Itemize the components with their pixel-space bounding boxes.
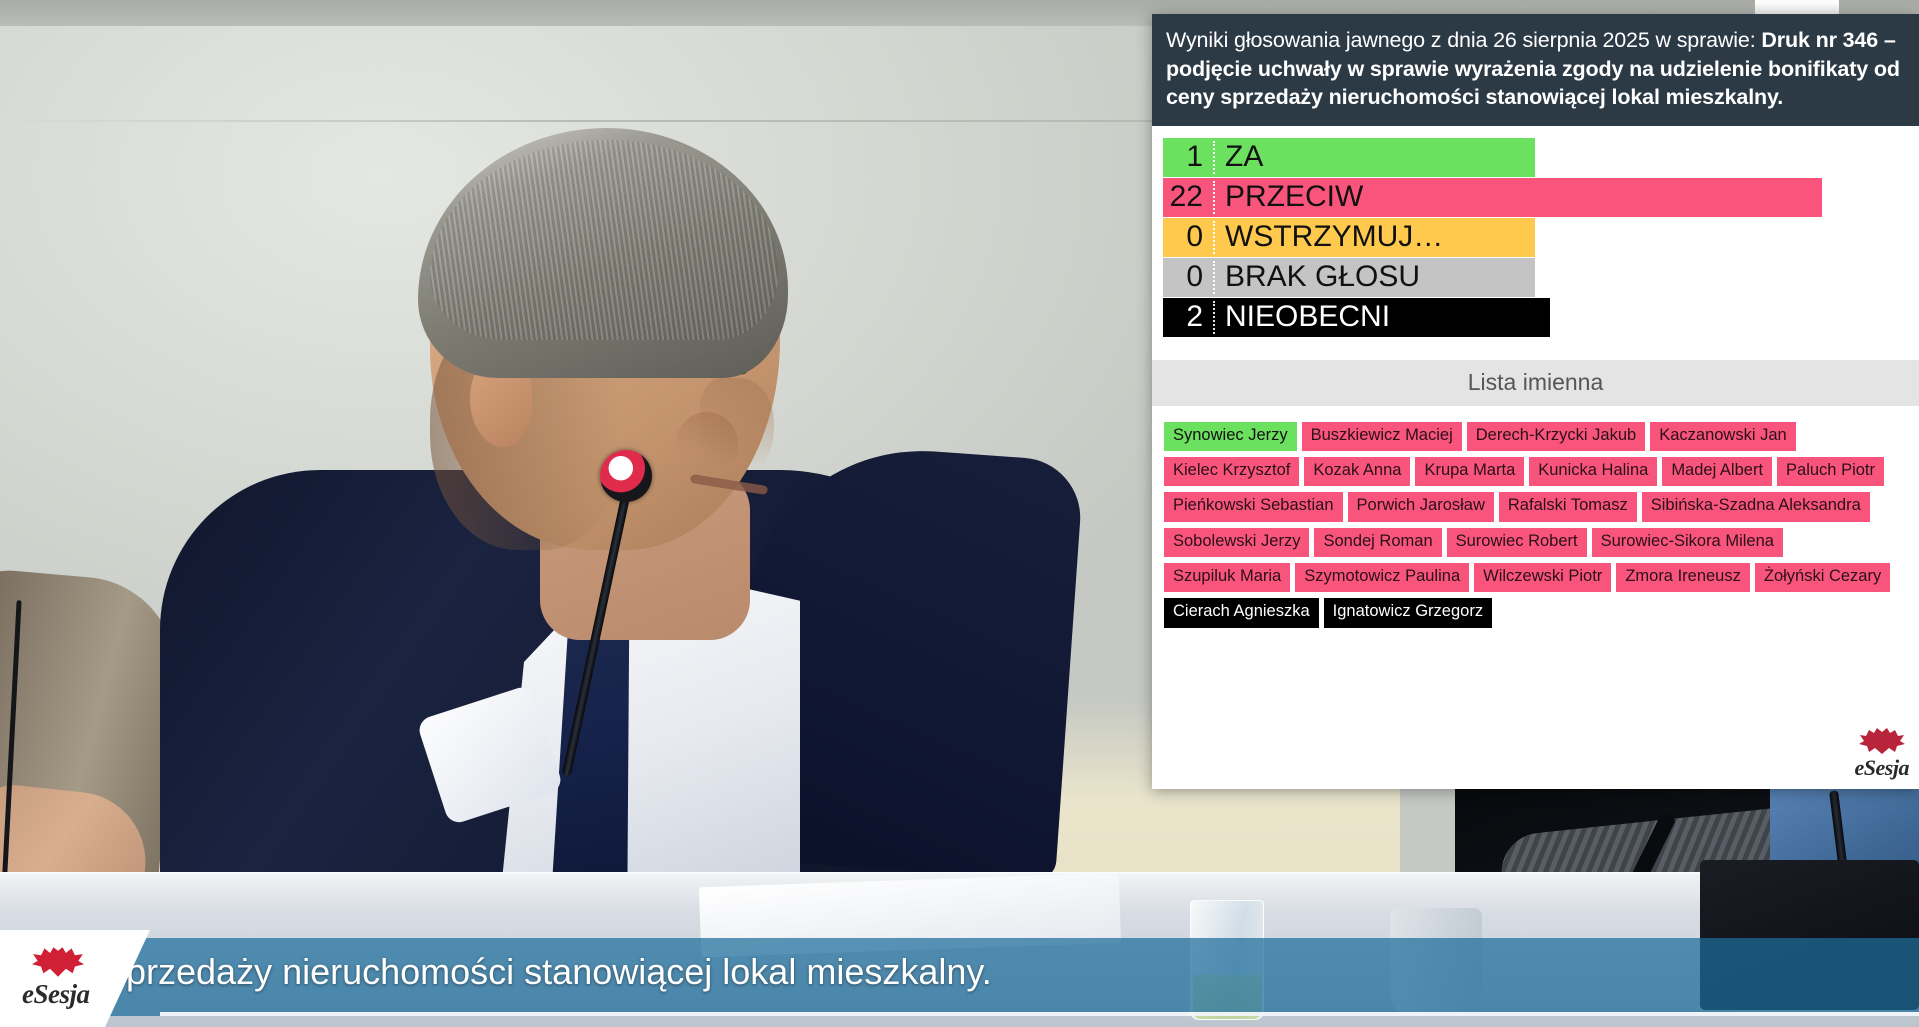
councillor-chip[interactable]: Surowiec-Sikora Milena <box>1592 528 1783 557</box>
vote-bar-content: 0WSTRZYMUJ… <box>1152 218 1443 257</box>
vote-count: 0 <box>1163 222 1213 252</box>
esesja-wordmark-panel: eSesja <box>1855 755 1909 781</box>
vote-count: 0 <box>1163 262 1213 292</box>
voting-results-bars: 1ZA22PRZECIW0WSTRZYMUJ…0BRAK GŁOSU2NIEOB… <box>1152 126 1919 348</box>
vote-bar-row: 2NIEOBECNI <box>1152 298 1919 337</box>
councillor-chip[interactable]: Zmora Ireneusz <box>1616 563 1750 592</box>
subtitle-text: sprzedaży nieruchomości stanowiącej loka… <box>108 952 1808 992</box>
councillor-chip[interactable]: Kozak Anna <box>1304 457 1410 486</box>
councillor-chip[interactable]: Derech-Krzycki Jakub <box>1467 422 1645 451</box>
councillor-chip[interactable]: Paluch Piotr <box>1777 457 1884 486</box>
vote-label: NIEOBECNI <box>1215 302 1390 332</box>
roll-call-chips: Synowiec JerzyBuszkiewicz MaciejDerech-K… <box>1164 422 1907 634</box>
councillor-chip[interactable]: Surowiec Robert <box>1447 528 1587 557</box>
councillor-chip[interactable]: Wilczewski Piotr <box>1474 563 1611 592</box>
voting-header-intro: Wyniki głosowania jawnego z dnia 26 sier… <box>1166 28 1761 52</box>
vote-bar-content: 2NIEOBECNI <box>1152 298 1390 337</box>
councillor-chip[interactable]: Rafalski Tomasz <box>1499 492 1637 521</box>
speaker-nose <box>700 378 774 478</box>
councillor-chip[interactable]: Kaczanowski Jan <box>1650 422 1795 451</box>
vote-bar-row: 22PRZECIW <box>1152 178 1919 217</box>
vote-bar-row: 1ZA <box>1152 138 1919 177</box>
voting-results-header: Wyniki głosowania jawnego z dnia 26 sier… <box>1152 14 1919 126</box>
councillor-chip[interactable]: Synowiec Jerzy <box>1164 422 1297 451</box>
councillor-chip[interactable]: Szupiluk Maria <box>1164 563 1290 592</box>
vote-bar-row: 0WSTRZYMUJ… <box>1152 218 1919 257</box>
councillor-chip[interactable]: Porwich Jarosław <box>1348 492 1494 521</box>
roll-call-name-list: Synowiec JerzyBuszkiewicz MaciejDerech-K… <box>1152 406 1919 789</box>
councillor-chip[interactable]: Cierach Agnieszka <box>1164 598 1319 627</box>
councillor-chip[interactable]: Pieńkowski Sebastian <box>1164 492 1343 521</box>
esesja-logo-panel: eSesja <box>1855 728 1909 781</box>
councillor-chip[interactable]: Madej Albert <box>1662 457 1772 486</box>
esesja-bat-mark-icon <box>1859 728 1905 754</box>
councillor-chip[interactable]: Krupa Marta <box>1415 457 1524 486</box>
roll-call-title: Lista imienna <box>1468 369 1604 396</box>
councillor-chip[interactable]: Buszkiewicz Maciej <box>1302 422 1462 451</box>
councillor-chip[interactable]: Żołyński Cezary <box>1755 563 1890 592</box>
councillor-chip[interactable]: Ignatowicz Grzegorz <box>1324 598 1492 627</box>
councillor-chip[interactable]: Sibińska-Szadna Aleksandra <box>1642 492 1870 521</box>
esesja-bat-mark-icon-badge <box>32 947 84 977</box>
vote-count: 2 <box>1163 302 1213 332</box>
subtitle-underline <box>160 1012 1919 1016</box>
councillor-chip[interactable]: Szymotowicz Paulina <box>1295 563 1469 592</box>
vote-bar-row: 0BRAK GŁOSU <box>1152 258 1919 297</box>
microphone-head <box>600 450 652 502</box>
vote-label: BRAK GŁOSU <box>1215 262 1420 292</box>
vote-label: ZA <box>1215 142 1263 172</box>
vote-bar-content: 1ZA <box>1152 138 1263 177</box>
vote-count: 22 <box>1163 182 1213 212</box>
vote-label: PRZECIW <box>1215 182 1363 212</box>
councillor-chip[interactable]: Sobolewski Jerzy <box>1164 528 1309 557</box>
screenshot-root: Wyniki głosowania jawnego z dnia 26 sier… <box>0 0 1919 1027</box>
esesja-wordmark-badge: eSesja <box>22 979 90 1010</box>
vote-bar-content: 22PRZECIW <box>1152 178 1363 217</box>
councillor-chip[interactable]: Sondej Roman <box>1314 528 1441 557</box>
voting-results-panel: Wyniki głosowania jawnego z dnia 26 sier… <box>1152 14 1919 789</box>
top-white-tab <box>1755 0 1839 15</box>
councillor-chip[interactable]: Kielec Krzysztof <box>1164 457 1299 486</box>
roll-call-title-bar: Lista imienna <box>1152 360 1919 406</box>
vote-bar-content: 0BRAK GŁOSU <box>1152 258 1420 297</box>
vote-count: 1 <box>1163 142 1213 172</box>
vote-label: WSTRZYMUJ… <box>1215 222 1443 252</box>
councillor-chip[interactable]: Kunicka Halina <box>1529 457 1657 486</box>
